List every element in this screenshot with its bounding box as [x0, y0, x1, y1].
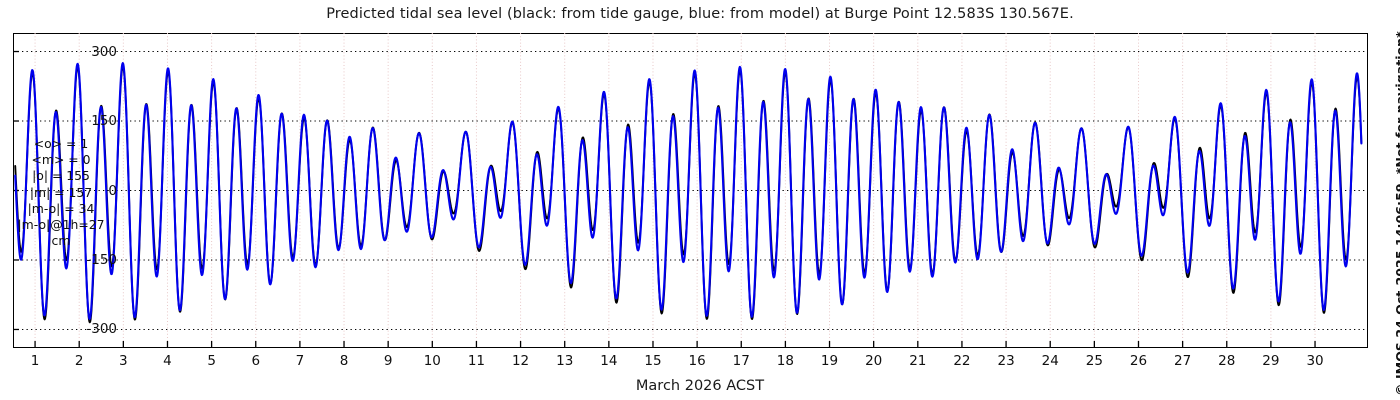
x-tick-label: 8 — [340, 353, 349, 369]
x-tick-label: 14 — [600, 353, 617, 369]
y-tick-label: 300 — [91, 44, 117, 60]
x-tick-label: 30 — [1306, 353, 1323, 369]
chart-canvas — [13, 33, 1368, 348]
x-tick-label: 26 — [1130, 353, 1147, 369]
x-tick-label: 23 — [997, 353, 1014, 369]
x-tick-label: 9 — [384, 353, 393, 369]
y-tick-label: -150 — [86, 252, 117, 268]
y-axis-tick-labels: 3001500-150-300 — [55, 33, 117, 348]
x-tick-label: 16 — [689, 353, 706, 369]
tidal-chart-page: Predicted tidal sea level (black: from t… — [0, 0, 1400, 400]
x-tick-label: 12 — [512, 353, 529, 369]
x-tick-label: 13 — [556, 353, 573, 369]
x-tick-label: 27 — [1174, 353, 1191, 369]
x-axis-tick-labels: 1234567891011121314151617181920212223242… — [0, 353, 1400, 373]
x-tick-label: 17 — [733, 353, 750, 369]
x-tick-label: 19 — [821, 353, 838, 369]
y-tick-label: -300 — [86, 321, 117, 337]
y-tick-label: 0 — [108, 183, 117, 199]
chart-title: Predicted tidal sea level (black: from t… — [0, 6, 1400, 22]
x-tick-label: 2 — [75, 353, 84, 369]
x-tick-label: 29 — [1262, 353, 1279, 369]
credit-text: © IMOS 24-Oct-2025 14:06:59. *Not for na… — [1393, 31, 1400, 396]
x-tick-label: 5 — [207, 353, 216, 369]
x-tick-label: 6 — [251, 353, 260, 369]
x-tick-label: 3 — [119, 353, 128, 369]
x-tick-label: 20 — [865, 353, 882, 369]
x-tick-label: 22 — [953, 353, 970, 369]
x-tick-label: 18 — [777, 353, 794, 369]
x-tick-label: 7 — [296, 353, 305, 369]
x-tick-label: 21 — [909, 353, 926, 369]
x-tick-label: 24 — [1042, 353, 1059, 369]
x-tick-label: 10 — [424, 353, 441, 369]
x-tick-label: 1 — [31, 353, 40, 369]
x-axis-title: March 2026 ACST — [0, 378, 1400, 394]
y-tick-label: 150 — [91, 113, 117, 129]
x-tick-label: 25 — [1086, 353, 1103, 369]
x-tick-label: 15 — [644, 353, 661, 369]
x-tick-label: 28 — [1218, 353, 1235, 369]
x-tick-label: 11 — [468, 353, 485, 369]
x-tick-label: 4 — [163, 353, 172, 369]
copyright-credit: © IMOS 24-Oct-2025 14:06:59. *Not for na… — [1379, 0, 1400, 400]
